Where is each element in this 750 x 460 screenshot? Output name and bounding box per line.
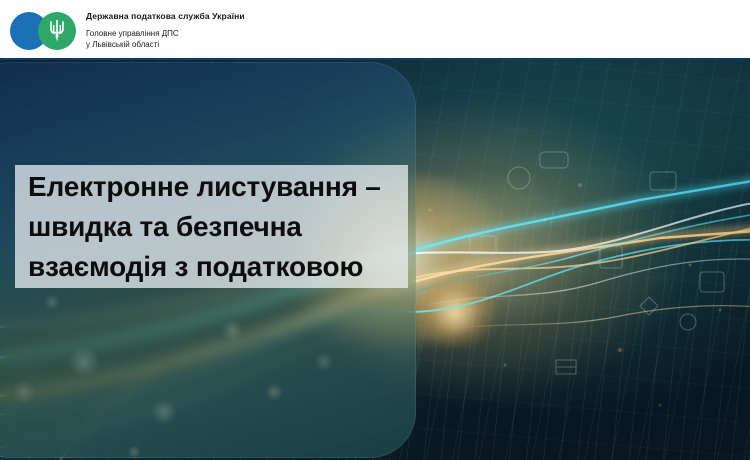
- hero-banner: Електронне листування – швидка та безпеч…: [0, 60, 750, 460]
- headline-line-1: Електронне листування –: [28, 167, 408, 207]
- organization-title: Державна податкова служба України: [86, 10, 245, 22]
- site-header: Державна податкова служба України Головн…: [0, 0, 750, 60]
- organization-subtitle: Головне управління ДПС у Львівській обла…: [86, 29, 245, 50]
- headline-line-3: взаємодія з податковою: [28, 247, 408, 287]
- organization-subtitle-line2: у Львівській області: [86, 40, 245, 51]
- tax-service-logo[interactable]: [10, 12, 84, 50]
- headline-panel: Електронне листування – швидка та безпеч…: [15, 165, 408, 288]
- news-banner-page: Державна податкова служба України Головн…: [0, 0, 750, 460]
- headline-line-2: швидка та безпечна: [28, 207, 408, 247]
- ukraine-trident-icon: [48, 19, 66, 43]
- organization-subtitle-line1: Головне управління ДПС: [86, 29, 245, 40]
- organization-block: Державна податкова служба України Головн…: [86, 10, 245, 50]
